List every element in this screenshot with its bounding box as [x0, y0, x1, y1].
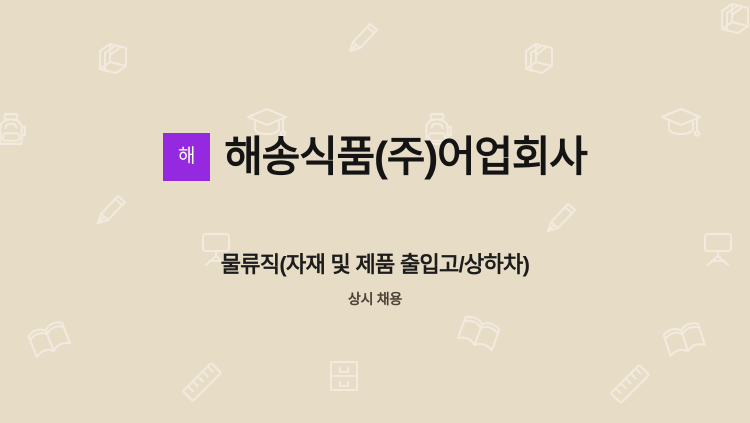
job-posting-banner: 해 해송식품(주)어업회사 물류직(자재 및 제품 출입고/상하차) 상시 채용 — [0, 0, 750, 423]
company-name: 해송식품(주)어업회사 — [224, 135, 587, 179]
job-position: 물류직(자재 및 제품 출입고/상하차) — [221, 252, 529, 278]
banner-content: 해 해송식품(주)어업회사 물류직(자재 및 제품 출입고/상하차) 상시 채용 — [0, 0, 750, 423]
recruit-type-label: 상시 채용 — [348, 291, 402, 308]
company-logo-badge: 해 — [163, 133, 210, 181]
company-title-row: 해 해송식품(주)어업회사 — [163, 107, 587, 207]
